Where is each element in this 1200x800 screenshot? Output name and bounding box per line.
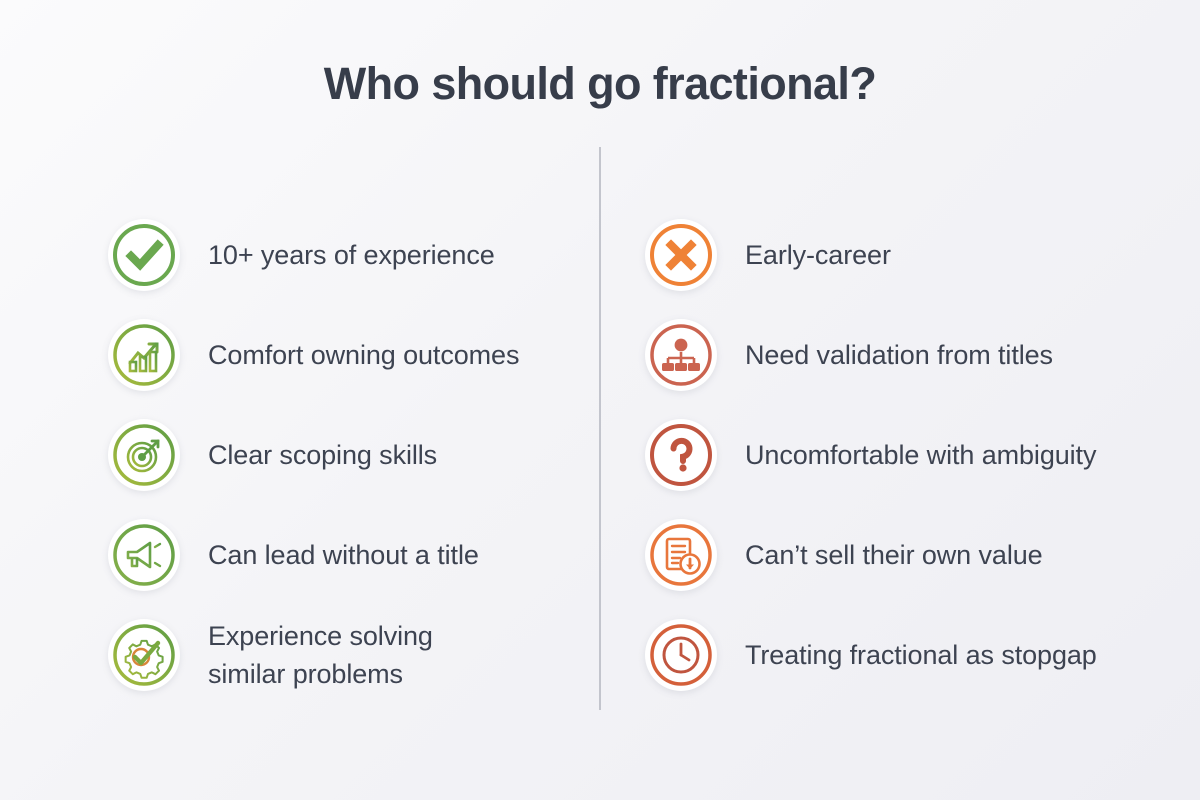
list-item: 10+ years of experience bbox=[108, 205, 599, 305]
question-mark-icon bbox=[645, 419, 717, 491]
x-mark-icon bbox=[645, 219, 717, 291]
list-item: Early-career bbox=[645, 205, 1200, 305]
org-chart-icon bbox=[645, 319, 717, 391]
list-item: Need validation from titles bbox=[645, 305, 1200, 405]
list-item-label: Uncomfortable with ambiguity bbox=[745, 436, 1096, 474]
list-item-label: Experience solving similar problems bbox=[208, 617, 433, 693]
good-fit-column: 10+ years of experience bbox=[0, 205, 599, 705]
target-arrow-icon bbox=[108, 419, 180, 491]
list-item-label: Early-career bbox=[745, 236, 891, 274]
columns-container: 10+ years of experience bbox=[0, 205, 1200, 705]
gear-check-icon bbox=[108, 619, 180, 691]
check-circle-icon bbox=[108, 219, 180, 291]
list-item: Comfort owning outcomes bbox=[108, 305, 599, 405]
list-item-label: Comfort owning outcomes bbox=[208, 336, 519, 374]
list-item-label: Can lead without a title bbox=[208, 536, 479, 574]
list-item: Can lead without a title bbox=[108, 505, 599, 605]
list-item: Uncomfortable with ambiguity bbox=[645, 405, 1200, 505]
list-item-label: Can’t sell their own value bbox=[745, 536, 1043, 574]
document-download-icon bbox=[645, 519, 717, 591]
list-item: Experience solving similar problems bbox=[108, 605, 599, 705]
list-item: Can’t sell their own value bbox=[645, 505, 1200, 605]
list-item: Clear scoping skills bbox=[108, 405, 599, 505]
megaphone-icon bbox=[108, 519, 180, 591]
poor-fit-column: Early-career bbox=[599, 205, 1200, 705]
list-item: Treating fractional as stopgap bbox=[645, 605, 1200, 705]
list-item-label: Need validation from titles bbox=[745, 336, 1053, 374]
list-item-label: Treating fractional as stopgap bbox=[745, 636, 1097, 674]
growth-chart-icon bbox=[108, 319, 180, 391]
page-title: Who should go fractional? bbox=[0, 58, 1200, 110]
list-item-label: Clear scoping skills bbox=[208, 436, 437, 474]
clock-icon bbox=[645, 619, 717, 691]
list-item-label: 10+ years of experience bbox=[208, 236, 495, 274]
infographic-slide: Who should go fractional? 10+ years of e… bbox=[0, 0, 1200, 800]
